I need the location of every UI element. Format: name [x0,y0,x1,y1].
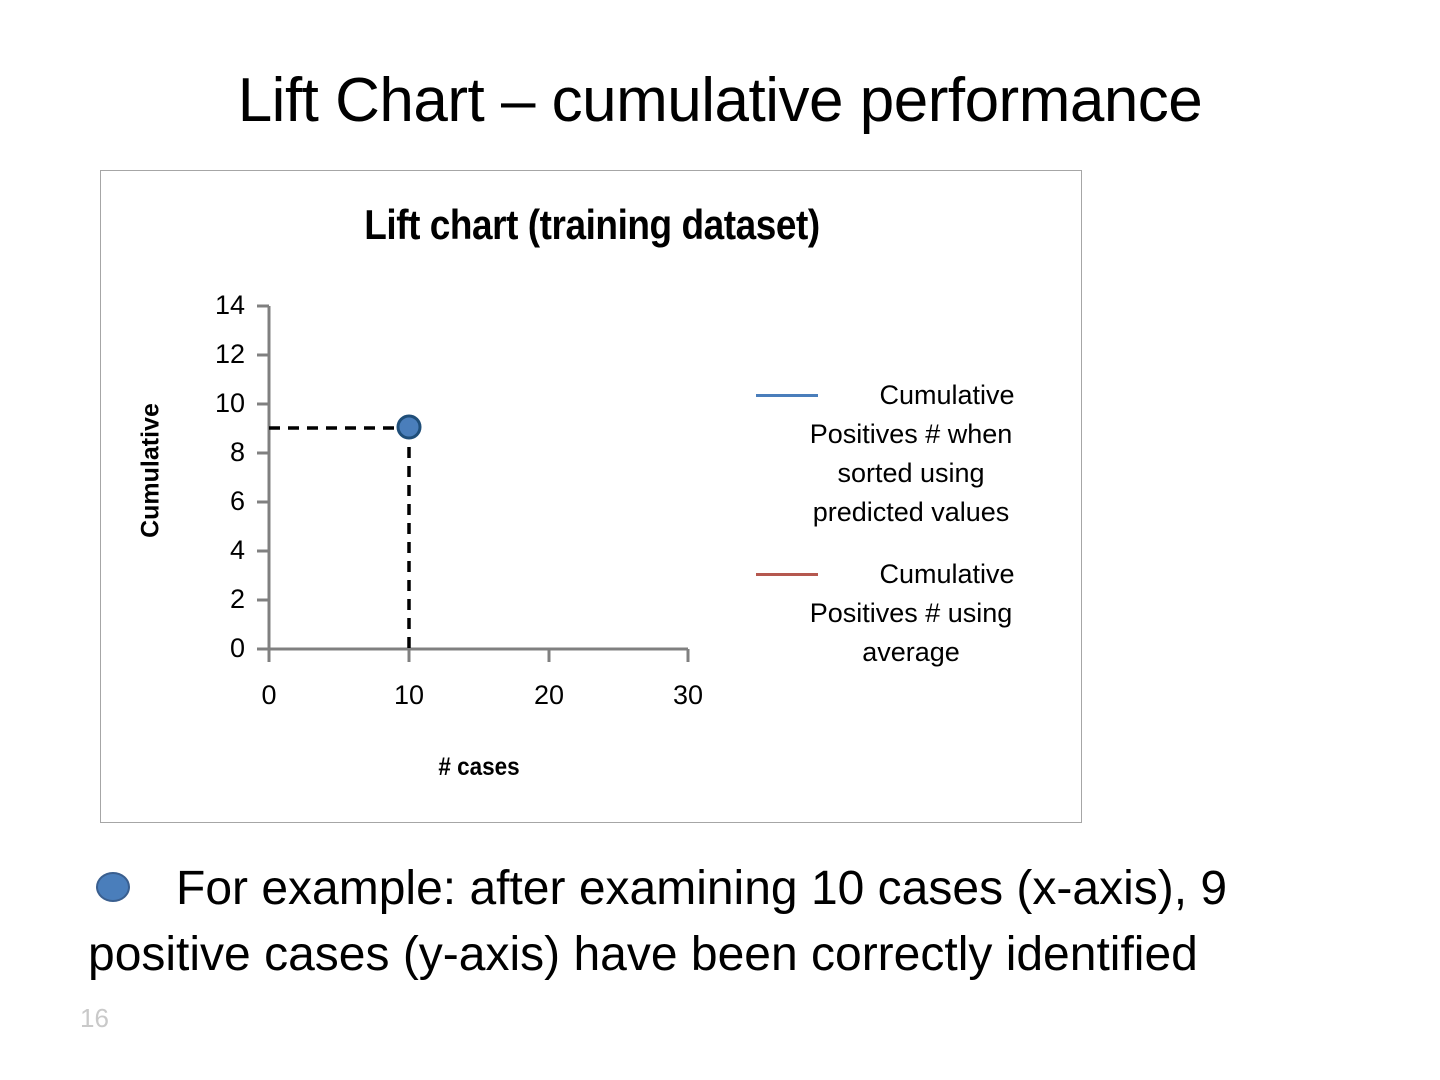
legend-line-1b: Cumulative [879,559,1014,589]
y-tick-label-12: 12 [185,341,245,368]
legend-line-swatch-blue [756,394,818,397]
x-tick-label-10: 10 [374,682,444,709]
x-tick-label-20: 20 [514,682,584,709]
legend-label-predicted: Cumulative Positives # when sorted using… [751,376,1071,533]
page-title: Lift Chart – cumulative performance [0,70,1440,132]
y-tick-label-8: 8 [185,439,245,466]
y-tick-label-0: 0 [185,635,245,662]
legend-line-2b: Positives # using [810,598,1013,628]
x-tick-label-30: 30 [653,682,723,709]
legend-line-4: predicted values [813,497,1010,527]
legend-line-3: sorted using [837,458,984,488]
y-tick-label-14: 14 [185,292,245,319]
legend-line-1: Cumulative [879,380,1014,410]
y-tick-label-6: 6 [185,488,245,515]
x-axis-title: # cases [290,753,668,782]
legend-entry-predicted[interactable]: Cumulative Positives # when sorted using… [751,376,1071,533]
y-tick-label-4: 4 [185,537,245,564]
legend-line-2: Positives # when [810,419,1013,449]
y-axis-ticks [257,306,269,649]
bullet-dot-icon [96,872,130,902]
x-tick-label-0: 0 [234,682,304,709]
x-axis-ticks [269,649,688,662]
y-tick-label-10: 10 [185,390,245,417]
bullet-paragraph-block: For example: after examining 10 cases (x… [88,856,1388,988]
chart-legend: Cumulative Positives # when sorted using… [751,376,1071,694]
legend-line-swatch-red [756,573,818,576]
body-text: For example: after examining 10 cases (x… [88,856,1388,988]
y-tick-label-2: 2 [185,586,245,613]
legend-entry-average[interactable]: Cumulative Positives # using average [751,555,1071,672]
legend-line-3b: average [862,637,960,667]
data-point-marker [398,416,420,438]
page-number: 16 [80,1003,109,1034]
chart-container: Lift chart (training dataset) [100,170,1082,823]
y-axis-title: Cumulative [137,371,166,571]
